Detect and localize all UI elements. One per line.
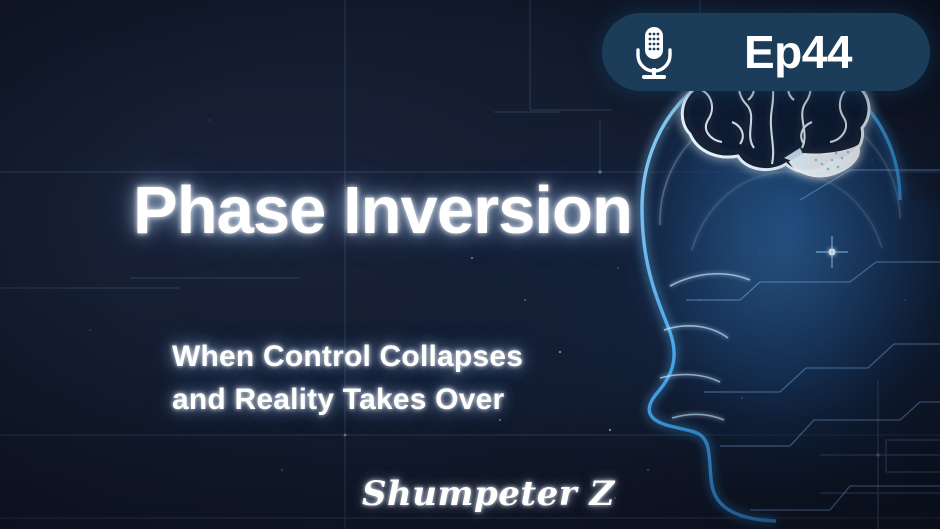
episode-number-label: Ep44: [744, 29, 852, 75]
episode-badge[interactable]: Ep44: [602, 13, 930, 91]
podcast-thumbnail: Ep44 Phase Inversion When Control Collap…: [0, 0, 940, 529]
microphone-icon: [624, 22, 684, 82]
episode-title: Phase Inversion: [133, 177, 632, 244]
author-signature: Shumpeter Z: [362, 474, 615, 514]
episode-subtitle: When Control Collapses and Reality Takes…: [172, 336, 523, 421]
